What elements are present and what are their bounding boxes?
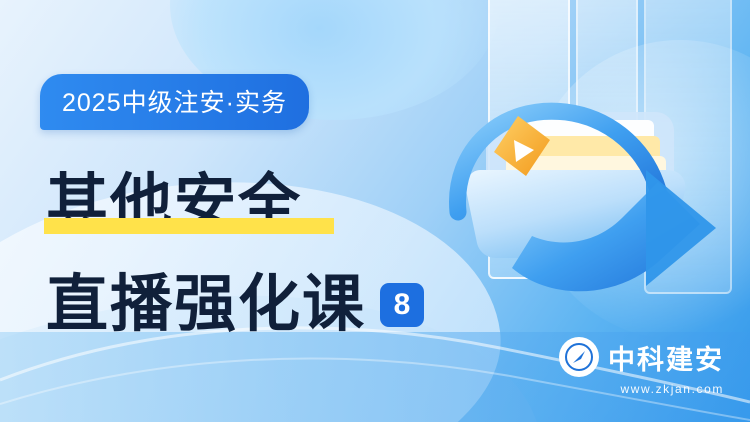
headline-line-2: 直播强化课 [46,253,366,343]
headline-line-2-group: 直播强化课 8 [46,253,424,343]
compass-logo-icon [559,337,599,377]
brand-logo-row: 中科建安 [559,337,724,377]
brand-url: www.zkjan.com [621,382,725,396]
headline-highlight-bar [44,218,334,234]
brand-name: 中科建安 [608,338,724,377]
episode-number-badge: 8 [380,283,424,327]
folder-and-arrow-illustration [400,0,740,380]
illustration-group [400,0,740,380]
brand-logo: 中科建安 www.zkjan.com [559,337,724,396]
course-promo-banner: 2025中级注安·实务 其他安全 直播强化课 8 中科建安 www.zkjan.… [0,0,750,422]
course-tag-pill: 2025中级注安·实务 [40,74,309,130]
